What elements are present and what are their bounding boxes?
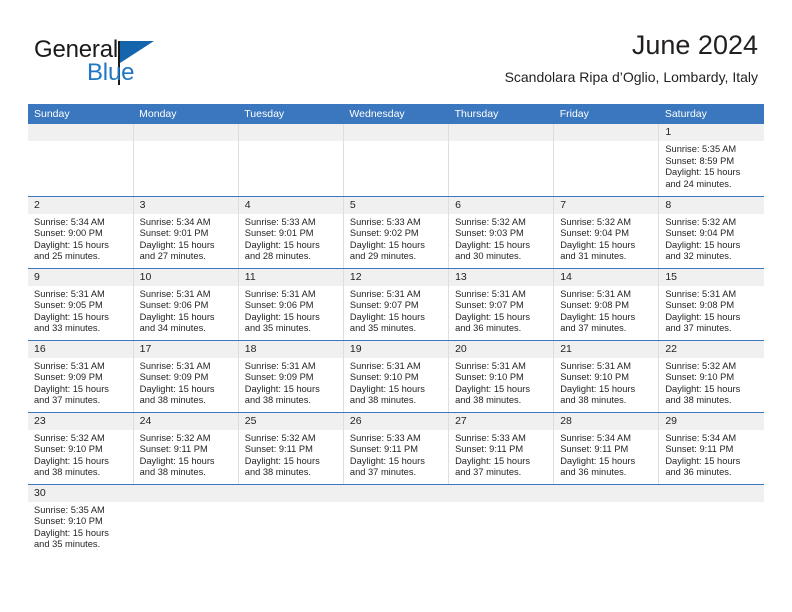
daylight-text: Daylight: 15 hours [560, 312, 652, 324]
daylight-text-cont: and 37 minutes. [350, 467, 442, 479]
day-details: Sunrise: 5:31 AMSunset: 9:05 PMDaylight:… [28, 286, 133, 335]
day-details: Sunrise: 5:32 AMSunset: 9:03 PMDaylight:… [449, 214, 553, 263]
day-details: Sunrise: 5:34 AMSunset: 9:00 PMDaylight:… [28, 214, 133, 263]
daylight-text: Daylight: 15 hours [350, 384, 442, 396]
sunset-text: Sunset: 9:11 PM [665, 444, 758, 456]
week-row: 23Sunrise: 5:32 AMSunset: 9:10 PMDayligh… [28, 412, 764, 484]
daylight-text: Daylight: 15 hours [140, 312, 232, 324]
sunrise-text: Sunrise: 5:31 AM [34, 289, 127, 301]
sunset-text: Sunset: 9:11 PM [350, 444, 442, 456]
day-number [554, 485, 659, 502]
day-of-week-header: Sunday Monday Tuesday Wednesday Thursday… [28, 104, 764, 124]
daylight-text: Daylight: 15 hours [665, 456, 758, 468]
day-number: 11 [239, 269, 343, 286]
day-details: Sunrise: 5:32 AMSunset: 9:04 PMDaylight:… [659, 214, 764, 263]
sunset-text: Sunset: 9:04 PM [665, 228, 758, 240]
sunset-text: Sunset: 9:02 PM [350, 228, 442, 240]
sunset-text: Sunset: 9:08 PM [560, 300, 652, 312]
day-cell-empty [449, 124, 554, 196]
sunrise-text: Sunrise: 5:31 AM [245, 361, 337, 373]
sunset-text: Sunset: 9:04 PM [560, 228, 652, 240]
day-cell[interactable]: 16Sunrise: 5:31 AMSunset: 9:09 PMDayligh… [28, 340, 133, 412]
page-subtitle: Scandolara Ripa d’Oglio, Lombardy, Italy [505, 68, 758, 86]
day-cell[interactable]: 27Sunrise: 5:33 AMSunset: 9:11 PMDayligh… [449, 412, 554, 484]
day-number [133, 485, 238, 502]
sunrise-text: Sunrise: 5:33 AM [455, 433, 547, 445]
daylight-text: Daylight: 15 hours [34, 456, 127, 468]
daylight-text: Daylight: 15 hours [350, 240, 442, 252]
day-details: Sunrise: 5:35 AMSunset: 8:59 PMDaylight:… [659, 141, 764, 190]
day-cell[interactable]: 23Sunrise: 5:32 AMSunset: 9:10 PMDayligh… [28, 412, 133, 484]
daylight-text-cont: and 32 minutes. [665, 251, 758, 263]
daylight-text-cont: and 37 minutes. [665, 323, 758, 335]
sunset-text: Sunset: 8:59 PM [665, 156, 758, 168]
sunrise-text: Sunrise: 5:32 AM [665, 217, 758, 229]
day-cell-empty [133, 484, 238, 574]
day-cell[interactable]: 24Sunrise: 5:32 AMSunset: 9:11 PMDayligh… [133, 412, 238, 484]
sunset-text: Sunset: 9:01 PM [140, 228, 232, 240]
day-details: Sunrise: 5:35 AMSunset: 9:10 PMDaylight:… [28, 502, 133, 551]
sunset-text: Sunset: 9:11 PM [245, 444, 337, 456]
sunrise-text: Sunrise: 5:32 AM [245, 433, 337, 445]
sunset-text: Sunset: 9:09 PM [245, 372, 337, 384]
day-number: 24 [134, 413, 238, 430]
sunrise-text: Sunrise: 5:31 AM [455, 289, 547, 301]
sunrise-text: Sunrise: 5:35 AM [34, 505, 127, 517]
day-cell[interactable]: 21Sunrise: 5:31 AMSunset: 9:10 PMDayligh… [554, 340, 659, 412]
day-cell[interactable]: 6Sunrise: 5:32 AMSunset: 9:03 PMDaylight… [449, 196, 554, 268]
day-details: Sunrise: 5:31 AMSunset: 9:07 PMDaylight:… [449, 286, 553, 335]
day-cell[interactable]: 2Sunrise: 5:34 AMSunset: 9:00 PMDaylight… [28, 196, 133, 268]
week-row: 1Sunrise: 5:35 AMSunset: 8:59 PMDaylight… [28, 124, 764, 196]
daylight-text: Daylight: 15 hours [245, 240, 337, 252]
day-number: 18 [239, 341, 343, 358]
sunrise-text: Sunrise: 5:31 AM [245, 289, 337, 301]
sunrise-text: Sunrise: 5:33 AM [350, 217, 442, 229]
daylight-text: Daylight: 15 hours [665, 240, 758, 252]
day-number: 15 [659, 269, 764, 286]
day-of-week-row: Sunday Monday Tuesday Wednesday Thursday… [28, 104, 764, 124]
dow-saturday: Saturday [659, 104, 764, 124]
day-cell[interactable]: 26Sunrise: 5:33 AMSunset: 9:11 PMDayligh… [343, 412, 448, 484]
day-number: 4 [239, 197, 343, 214]
sunset-text: Sunset: 9:06 PM [245, 300, 337, 312]
daylight-text: Daylight: 15 hours [455, 456, 547, 468]
day-details: Sunrise: 5:34 AMSunset: 9:01 PMDaylight:… [134, 214, 238, 263]
sunset-text: Sunset: 9:11 PM [140, 444, 232, 456]
day-number [343, 485, 448, 502]
daylight-text: Daylight: 15 hours [245, 312, 337, 324]
sunset-text: Sunset: 9:11 PM [560, 444, 652, 456]
day-cell[interactable]: 19Sunrise: 5:31 AMSunset: 9:10 PMDayligh… [343, 340, 448, 412]
daylight-text-cont: and 38 minutes. [350, 395, 442, 407]
day-number: 14 [554, 269, 658, 286]
daylight-text-cont: and 37 minutes. [34, 395, 127, 407]
day-details: Sunrise: 5:31 AMSunset: 9:09 PMDaylight:… [28, 358, 133, 407]
day-cell[interactable]: 1Sunrise: 5:35 AMSunset: 8:59 PMDaylight… [659, 124, 764, 196]
daylight-text-cont: and 24 minutes. [665, 179, 758, 191]
daylight-text-cont: and 30 minutes. [455, 251, 547, 263]
sunset-text: Sunset: 9:08 PM [665, 300, 758, 312]
sunrise-text: Sunrise: 5:31 AM [34, 361, 127, 373]
day-details: Sunrise: 5:31 AMSunset: 9:07 PMDaylight:… [344, 286, 448, 335]
sunset-text: Sunset: 9:09 PM [34, 372, 127, 384]
daylight-text: Daylight: 15 hours [560, 456, 652, 468]
day-details: Sunrise: 5:34 AMSunset: 9:11 PMDaylight:… [659, 430, 764, 479]
day-number: 29 [659, 413, 764, 430]
sunset-text: Sunset: 9:07 PM [455, 300, 547, 312]
sunrise-text: Sunrise: 5:31 AM [140, 361, 232, 373]
daylight-text-cont: and 36 minutes. [455, 323, 547, 335]
daylight-text: Daylight: 15 hours [34, 312, 127, 324]
day-details: Sunrise: 5:33 AMSunset: 9:02 PMDaylight:… [344, 214, 448, 263]
daylight-text: Daylight: 15 hours [560, 384, 652, 396]
day-cell[interactable]: 4Sunrise: 5:33 AMSunset: 9:01 PMDaylight… [238, 196, 343, 268]
dow-monday: Monday [133, 104, 238, 124]
day-number [238, 485, 343, 502]
day-cell[interactable]: 18Sunrise: 5:31 AMSunset: 9:09 PMDayligh… [238, 340, 343, 412]
day-details: Sunrise: 5:31 AMSunset: 9:06 PMDaylight:… [239, 286, 343, 335]
day-details: Sunrise: 5:32 AMSunset: 9:04 PMDaylight:… [554, 214, 658, 263]
day-details: Sunrise: 5:34 AMSunset: 9:11 PMDaylight:… [554, 430, 658, 479]
daylight-text: Daylight: 15 hours [140, 240, 232, 252]
day-cell-empty [238, 484, 343, 574]
sunrise-text: Sunrise: 5:32 AM [455, 217, 547, 229]
sunrise-text: Sunrise: 5:31 AM [140, 289, 232, 301]
day-details: Sunrise: 5:33 AMSunset: 9:01 PMDaylight:… [239, 214, 343, 263]
week-row: 16Sunrise: 5:31 AMSunset: 9:09 PMDayligh… [28, 340, 764, 412]
daylight-text-cont: and 35 minutes. [245, 323, 337, 335]
day-number: 13 [449, 269, 553, 286]
daylight-text-cont: and 34 minutes. [140, 323, 232, 335]
daylight-text-cont: and 38 minutes. [665, 395, 758, 407]
week-row: 30Sunrise: 5:35 AMSunset: 9:10 PMDayligh… [28, 484, 764, 574]
sunrise-text: Sunrise: 5:33 AM [245, 217, 337, 229]
daylight-text: Daylight: 15 hours [140, 384, 232, 396]
day-cell[interactable]: 12Sunrise: 5:31 AMSunset: 9:07 PMDayligh… [343, 268, 448, 340]
day-number: 5 [344, 197, 448, 214]
day-details: Sunrise: 5:32 AMSunset: 9:11 PMDaylight:… [134, 430, 238, 479]
dow-friday: Friday [554, 104, 659, 124]
daylight-text: Daylight: 15 hours [455, 384, 547, 396]
day-details: Sunrise: 5:31 AMSunset: 9:10 PMDaylight:… [554, 358, 658, 407]
sunrise-text: Sunrise: 5:31 AM [350, 289, 442, 301]
day-number: 26 [344, 413, 448, 430]
day-cell-empty [449, 484, 554, 574]
day-number: 7 [554, 197, 658, 214]
sunrise-text: Sunrise: 5:32 AM [34, 433, 127, 445]
daylight-text-cont: and 31 minutes. [560, 251, 652, 263]
sunrise-text: Sunrise: 5:34 AM [140, 217, 232, 229]
day-cell[interactable]: 15Sunrise: 5:31 AMSunset: 9:08 PMDayligh… [659, 268, 764, 340]
day-details: Sunrise: 5:33 AMSunset: 9:11 PMDaylight:… [344, 430, 448, 479]
page-title: June 2024 [505, 28, 758, 62]
day-details: Sunrise: 5:31 AMSunset: 9:10 PMDaylight:… [344, 358, 448, 407]
day-number: 28 [554, 413, 658, 430]
day-cell[interactable]: 29Sunrise: 5:34 AMSunset: 9:11 PMDayligh… [659, 412, 764, 484]
daylight-text: Daylight: 15 hours [34, 384, 127, 396]
logo-text-blue: Blue [87, 59, 134, 87]
daylight-text-cont: and 38 minutes. [245, 467, 337, 479]
sunrise-text: Sunrise: 5:31 AM [665, 289, 758, 301]
daylight-text-cont: and 38 minutes. [245, 395, 337, 407]
daylight-text-cont: and 38 minutes. [34, 467, 127, 479]
daylight-text-cont: and 37 minutes. [455, 467, 547, 479]
day-cell-empty [659, 484, 764, 574]
sunset-text: Sunset: 9:00 PM [34, 228, 127, 240]
daylight-text-cont: and 28 minutes. [245, 251, 337, 263]
month-grid: Sunday Monday Tuesday Wednesday Thursday… [28, 104, 764, 574]
day-cell-empty [343, 484, 448, 574]
day-number: 20 [449, 341, 553, 358]
day-number: 1 [659, 124, 764, 141]
sunset-text: Sunset: 9:10 PM [34, 444, 127, 456]
day-number: 25 [239, 413, 343, 430]
sunrise-text: Sunrise: 5:31 AM [560, 289, 652, 301]
day-cell[interactable]: 20Sunrise: 5:31 AMSunset: 9:10 PMDayligh… [449, 340, 554, 412]
sunrise-text: Sunrise: 5:33 AM [350, 433, 442, 445]
week-row: 2Sunrise: 5:34 AMSunset: 9:00 PMDaylight… [28, 196, 764, 268]
sunset-text: Sunset: 9:07 PM [350, 300, 442, 312]
sunrise-text: Sunrise: 5:34 AM [665, 433, 758, 445]
day-cell-empty [554, 484, 659, 574]
day-cell[interactable]: 11Sunrise: 5:31 AMSunset: 9:06 PMDayligh… [238, 268, 343, 340]
day-cell-empty [133, 124, 238, 196]
daylight-text-cont: and 25 minutes. [34, 251, 127, 263]
dow-wednesday: Wednesday [343, 104, 448, 124]
day-cell[interactable]: 14Sunrise: 5:31 AMSunset: 9:08 PMDayligh… [554, 268, 659, 340]
day-cell-empty [28, 124, 133, 196]
day-details: Sunrise: 5:32 AMSunset: 9:10 PMDaylight:… [659, 358, 764, 407]
daylight-text: Daylight: 15 hours [245, 456, 337, 468]
daylight-text-cont: and 29 minutes. [350, 251, 442, 263]
daylight-text: Daylight: 15 hours [140, 456, 232, 468]
daylight-text: Daylight: 15 hours [665, 167, 758, 179]
day-number: 8 [659, 197, 764, 214]
day-number [344, 124, 448, 141]
day-number: 17 [134, 341, 238, 358]
day-number: 16 [28, 341, 133, 358]
day-number: 2 [28, 197, 133, 214]
calendar-page: General Blue June 2024 Scandolara Ripa d… [0, 0, 792, 612]
day-cell[interactable]: 5Sunrise: 5:33 AMSunset: 9:02 PMDaylight… [343, 196, 448, 268]
day-cell-empty [554, 124, 659, 196]
daylight-text: Daylight: 15 hours [34, 240, 127, 252]
day-number [239, 124, 343, 141]
day-cell-empty [343, 124, 448, 196]
day-details: Sunrise: 5:33 AMSunset: 9:11 PMDaylight:… [449, 430, 553, 479]
sunrise-text: Sunrise: 5:34 AM [560, 433, 652, 445]
daylight-text: Daylight: 15 hours [665, 312, 758, 324]
sunrise-text: Sunrise: 5:35 AM [665, 144, 758, 156]
daylight-text-cont: and 38 minutes. [140, 395, 232, 407]
dow-tuesday: Tuesday [238, 104, 343, 124]
sunrise-text: Sunrise: 5:31 AM [560, 361, 652, 373]
general-blue-logo[interactable]: General Blue [34, 36, 214, 92]
daylight-text: Daylight: 15 hours [245, 384, 337, 396]
day-number: 23 [28, 413, 133, 430]
day-number [449, 485, 554, 502]
weeks-body: 1Sunrise: 5:35 AMSunset: 8:59 PMDaylight… [28, 124, 764, 574]
daylight-text-cont: and 38 minutes. [140, 467, 232, 479]
day-number [28, 124, 133, 141]
day-number: 3 [134, 197, 238, 214]
day-number [554, 124, 658, 141]
day-details: Sunrise: 5:32 AMSunset: 9:11 PMDaylight:… [239, 430, 343, 479]
day-number: 21 [554, 341, 658, 358]
daylight-text: Daylight: 15 hours [34, 528, 127, 540]
day-cell[interactable]: 7Sunrise: 5:32 AMSunset: 9:04 PMDaylight… [554, 196, 659, 268]
daylight-text-cont: and 27 minutes. [140, 251, 232, 263]
day-number: 30 [28, 485, 133, 502]
daylight-text-cont: and 36 minutes. [665, 467, 758, 479]
sunset-text: Sunset: 9:10 PM [34, 516, 127, 528]
sunrise-text: Sunrise: 5:32 AM [665, 361, 758, 373]
day-number [449, 124, 553, 141]
day-details: Sunrise: 5:31 AMSunset: 9:09 PMDaylight:… [239, 358, 343, 407]
daylight-text: Daylight: 15 hours [665, 384, 758, 396]
day-cell[interactable]: 13Sunrise: 5:31 AMSunset: 9:07 PMDayligh… [449, 268, 554, 340]
daylight-text-cont: and 33 minutes. [34, 323, 127, 335]
daylight-text-cont: and 35 minutes. [34, 539, 127, 551]
sunset-text: Sunset: 9:01 PM [245, 228, 337, 240]
daylight-text: Daylight: 15 hours [455, 312, 547, 324]
day-number: 22 [659, 341, 764, 358]
daylight-text-cont: and 36 minutes. [560, 467, 652, 479]
sunrise-text: Sunrise: 5:31 AM [455, 361, 547, 373]
day-cell-empty [238, 124, 343, 196]
sunrise-text: Sunrise: 5:31 AM [350, 361, 442, 373]
day-cell[interactable]: 28Sunrise: 5:34 AMSunset: 9:11 PMDayligh… [554, 412, 659, 484]
daylight-text: Daylight: 15 hours [350, 312, 442, 324]
day-cell[interactable]: 25Sunrise: 5:32 AMSunset: 9:11 PMDayligh… [238, 412, 343, 484]
day-cell[interactable]: 10Sunrise: 5:31 AMSunset: 9:06 PMDayligh… [133, 268, 238, 340]
daylight-text-cont: and 38 minutes. [560, 395, 652, 407]
sunset-text: Sunset: 9:10 PM [560, 372, 652, 384]
dow-sunday: Sunday [28, 104, 133, 124]
day-details: Sunrise: 5:31 AMSunset: 9:06 PMDaylight:… [134, 286, 238, 335]
day-cell[interactable]: 22Sunrise: 5:32 AMSunset: 9:10 PMDayligh… [659, 340, 764, 412]
title-block: June 2024 Scandolara Ripa d’Oglio, Lomba… [505, 28, 758, 86]
day-number [659, 485, 764, 502]
day-cell[interactable]: 9Sunrise: 5:31 AMSunset: 9:05 PMDaylight… [28, 268, 133, 340]
day-details: Sunrise: 5:31 AMSunset: 9:08 PMDaylight:… [659, 286, 764, 335]
day-details: Sunrise: 5:31 AMSunset: 9:09 PMDaylight:… [134, 358, 238, 407]
day-details: Sunrise: 5:32 AMSunset: 9:10 PMDaylight:… [28, 430, 133, 479]
day-details: Sunrise: 5:31 AMSunset: 9:08 PMDaylight:… [554, 286, 658, 335]
day-cell[interactable]: 30Sunrise: 5:35 AMSunset: 9:10 PMDayligh… [28, 484, 133, 574]
dow-thursday: Thursday [449, 104, 554, 124]
sunset-text: Sunset: 9:10 PM [350, 372, 442, 384]
sunrise-text: Sunrise: 5:34 AM [34, 217, 127, 229]
day-cell[interactable]: 8Sunrise: 5:32 AMSunset: 9:04 PMDaylight… [659, 196, 764, 268]
daylight-text-cont: and 37 minutes. [560, 323, 652, 335]
daylight-text: Daylight: 15 hours [560, 240, 652, 252]
day-number: 10 [134, 269, 238, 286]
week-row: 9Sunrise: 5:31 AMSunset: 9:05 PMDaylight… [28, 268, 764, 340]
sunset-text: Sunset: 9:09 PM [140, 372, 232, 384]
sunset-text: Sunset: 9:03 PM [455, 228, 547, 240]
sunset-text: Sunset: 9:11 PM [455, 444, 547, 456]
daylight-text: Daylight: 15 hours [350, 456, 442, 468]
day-cell[interactable]: 3Sunrise: 5:34 AMSunset: 9:01 PMDaylight… [133, 196, 238, 268]
sunrise-text: Sunrise: 5:32 AM [560, 217, 652, 229]
sunrise-text: Sunrise: 5:32 AM [140, 433, 232, 445]
sunset-text: Sunset: 9:06 PM [140, 300, 232, 312]
day-number [134, 124, 238, 141]
day-number: 6 [449, 197, 553, 214]
sunset-text: Sunset: 9:10 PM [665, 372, 758, 384]
day-number: 19 [344, 341, 448, 358]
day-details: Sunrise: 5:31 AMSunset: 9:10 PMDaylight:… [449, 358, 553, 407]
day-cell[interactable]: 17Sunrise: 5:31 AMSunset: 9:09 PMDayligh… [133, 340, 238, 412]
day-number: 27 [449, 413, 553, 430]
daylight-text: Daylight: 15 hours [455, 240, 547, 252]
sunset-text: Sunset: 9:05 PM [34, 300, 127, 312]
daylight-text-cont: and 38 minutes. [455, 395, 547, 407]
day-number: 9 [28, 269, 133, 286]
sunset-text: Sunset: 9:10 PM [455, 372, 547, 384]
page-header: General Blue June 2024 Scandolara Ripa d… [0, 0, 792, 100]
daylight-text-cont: and 35 minutes. [350, 323, 442, 335]
day-number: 12 [344, 269, 448, 286]
